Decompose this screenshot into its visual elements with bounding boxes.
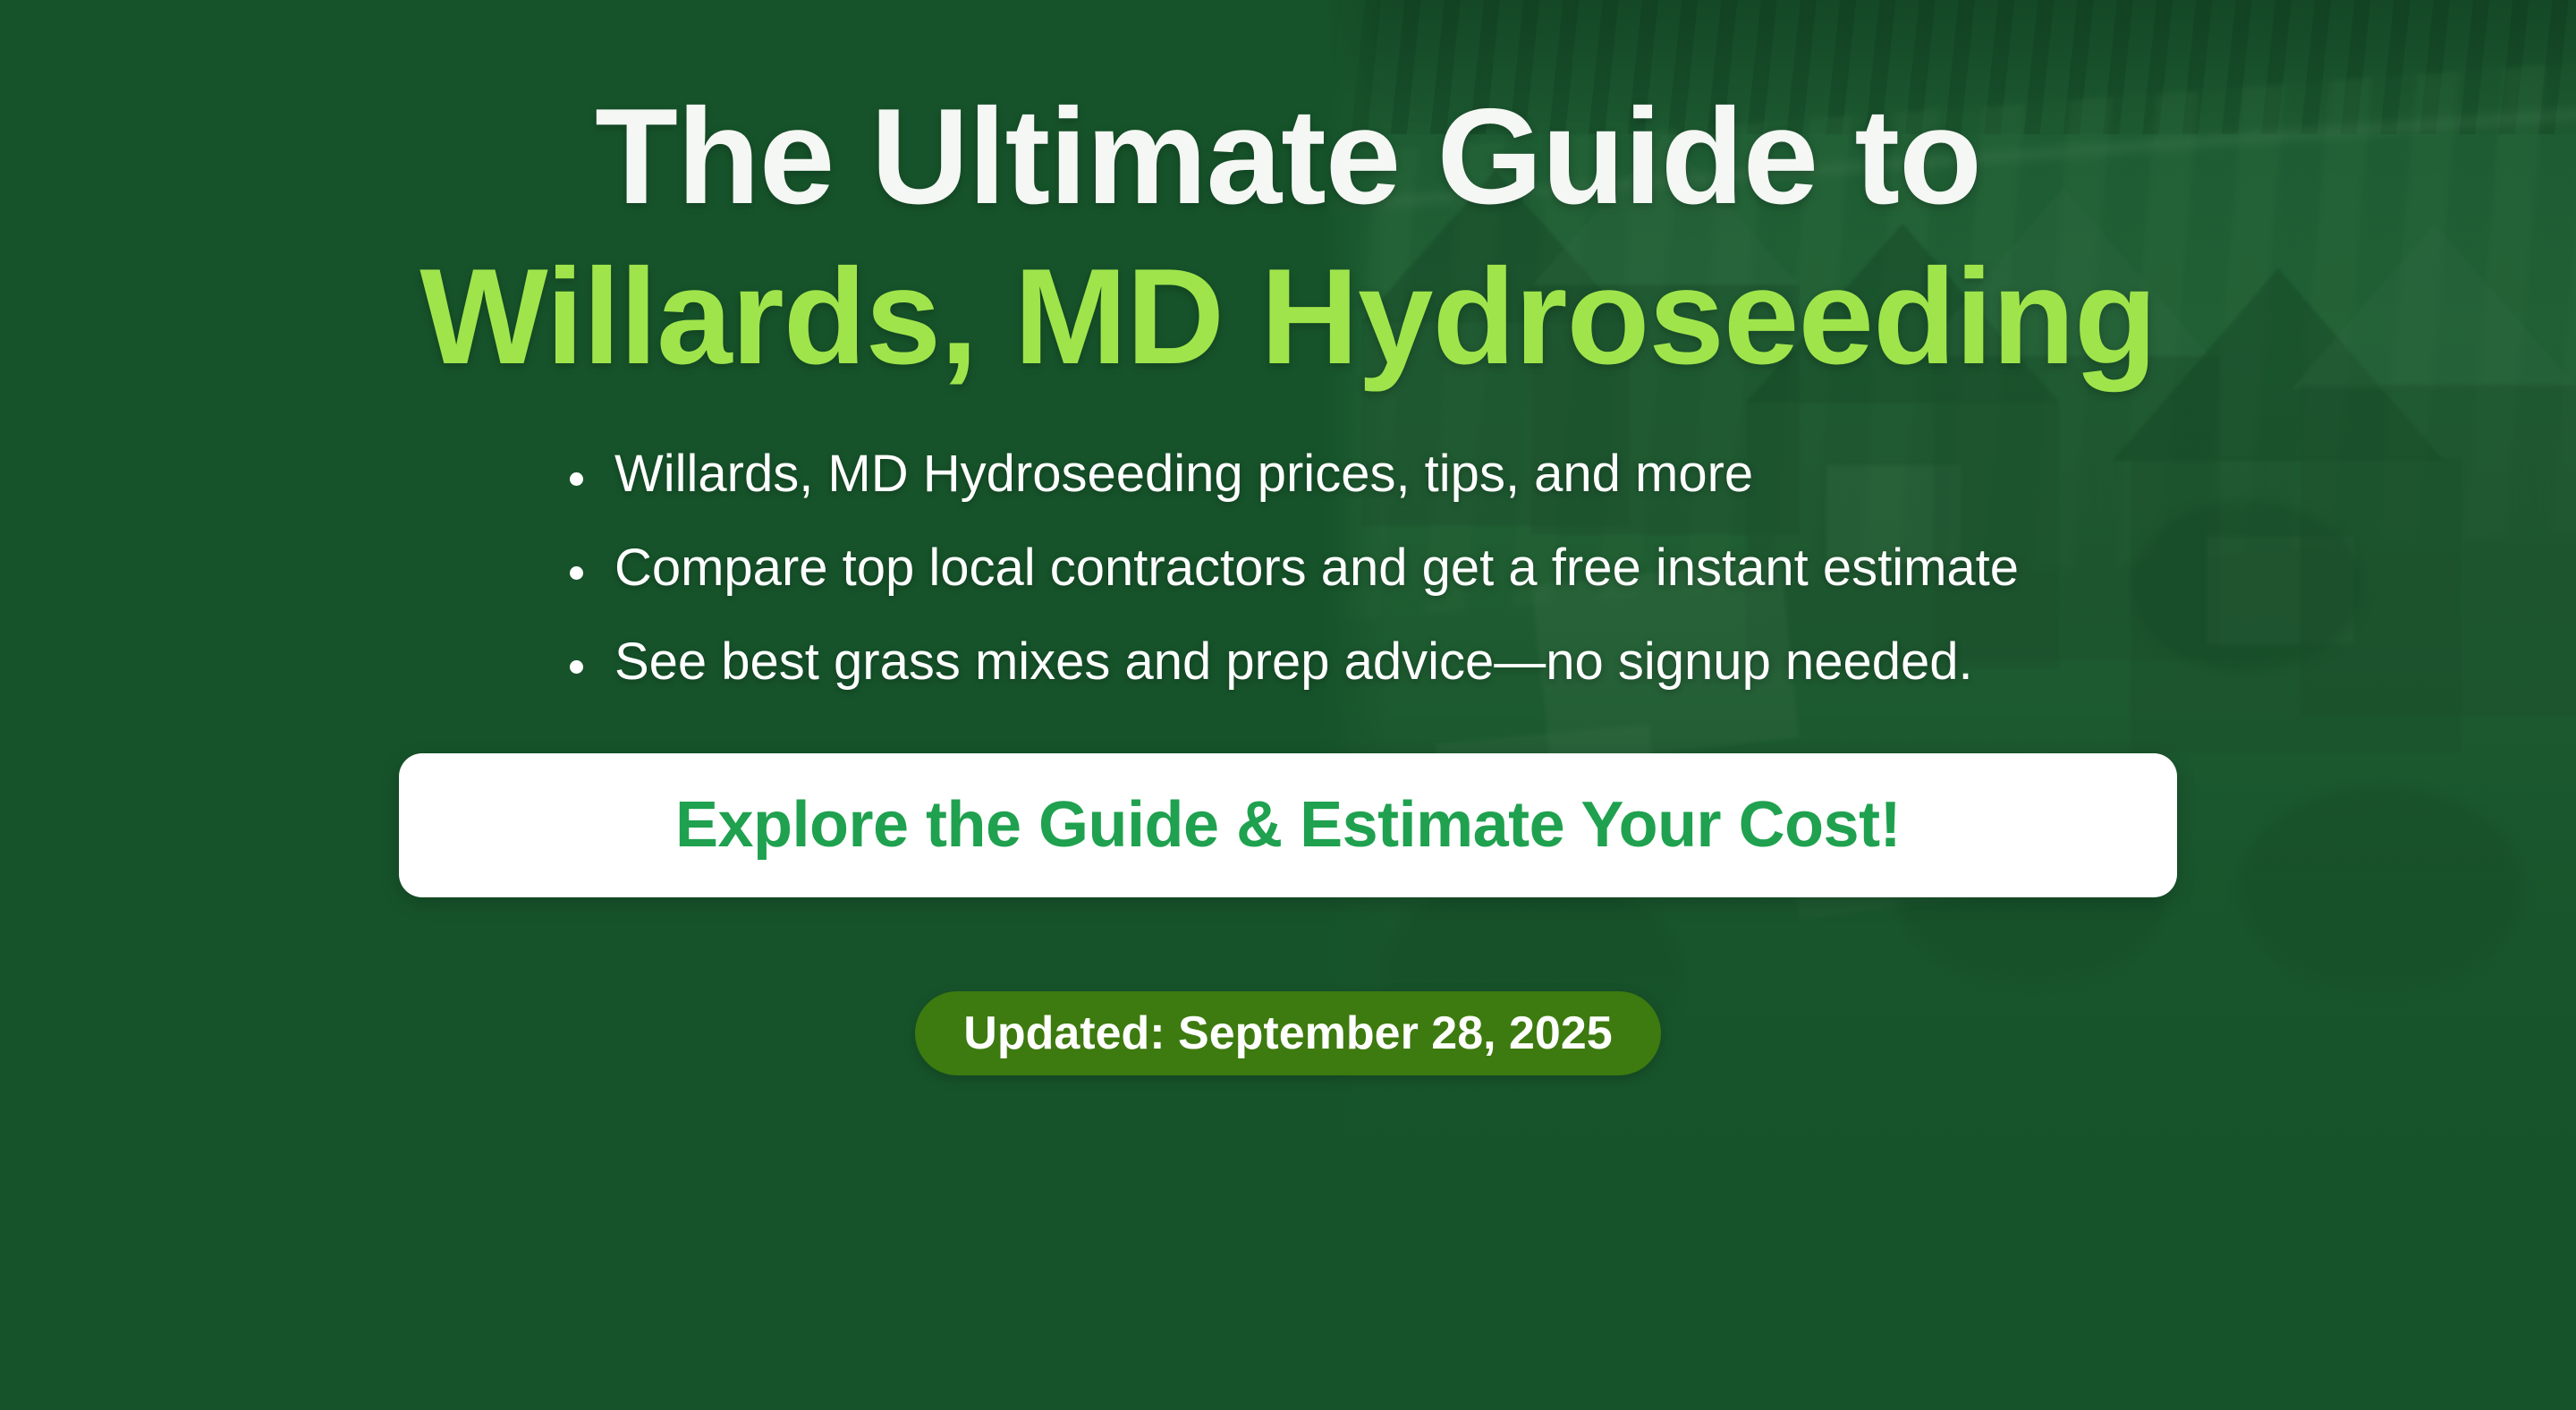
- list-item: Compare top local contractors and get a …: [557, 542, 2019, 594]
- headline-line-location: Willards, MD Hydroseeding: [0, 237, 2576, 397]
- benefits-list: Willards, MD Hydroseeding prices, tips, …: [557, 448, 2019, 730]
- explore-guide-button[interactable]: Explore the Guide & Estimate Your Cost!: [399, 753, 2177, 897]
- updated-date-badge: Updated: September 28, 2025: [915, 991, 1660, 1075]
- hero-banner: The Ultimate Guide to Willards, MD Hydro…: [0, 0, 2576, 1410]
- banner-content: The Ultimate Guide to Willards, MD Hydro…: [0, 0, 2576, 1410]
- list-item: See best grass mixes and prep advice—no …: [557, 636, 2019, 688]
- list-item: Willards, MD Hydroseeding prices, tips, …: [557, 448, 2019, 500]
- headline-line-primary: The Ultimate Guide to: [0, 77, 2576, 237]
- page-title: The Ultimate Guide to Willards, MD Hydro…: [0, 0, 2576, 398]
